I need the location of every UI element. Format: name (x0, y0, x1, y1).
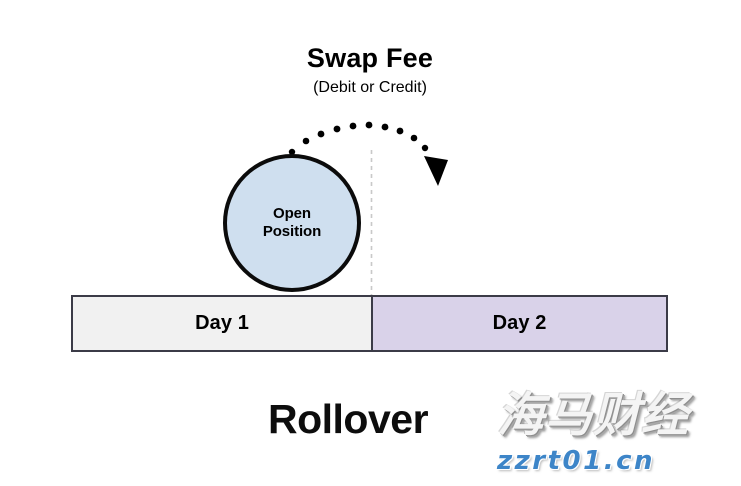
timeline-segment-day-2: Day 2 (373, 297, 666, 350)
timeline-bar: Day 1 Day 2 (71, 295, 668, 352)
rollover-caption: Rollover (268, 398, 428, 441)
open-position-circle: Open Position (223, 154, 361, 292)
day-1-label: Day 1 (195, 312, 249, 335)
day-2-label: Day 2 (493, 312, 547, 335)
dotted-arc-icon (289, 122, 428, 156)
watermark-url: zzrt01.cn (497, 448, 733, 474)
watermark: 海马财经 zzrt01.cn (497, 392, 733, 484)
timeline-segment-day-1: Day 1 (73, 297, 373, 350)
arrowhead-triangle-icon (424, 156, 448, 186)
diagram-canvas: Swap Fee (Debit or Credit) Open Position… (0, 0, 741, 486)
watermark-brand: 海马财经 (497, 392, 733, 439)
open-position-label: Open Position (263, 205, 321, 242)
